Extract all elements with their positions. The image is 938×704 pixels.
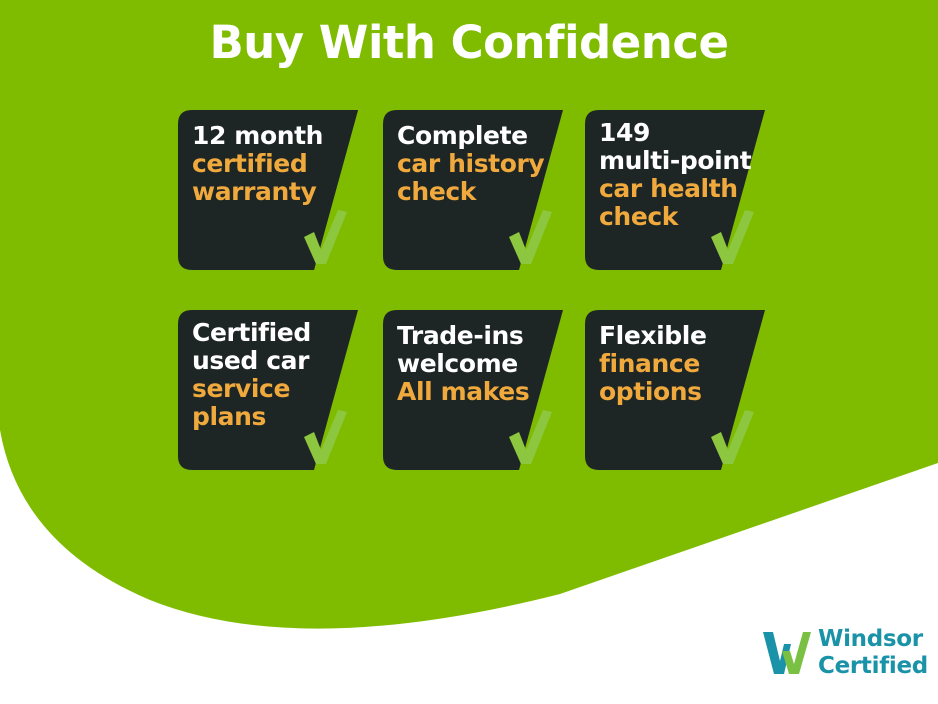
card-line: 149 — [599, 119, 751, 147]
feature-card-flexible-finance-options: Flexible finance options — [585, 310, 765, 470]
logo-line-2: Certified — [818, 653, 928, 680]
feature-card-certified-used-car-service-plans: Certified used car service plans — [178, 310, 358, 470]
feature-card-12-month-certified-warranty: 12 month certified warranty — [178, 110, 358, 270]
card-line: certified — [192, 150, 344, 178]
card-line: Complete — [397, 122, 549, 150]
check-icon — [507, 410, 553, 466]
feature-card-149-multi-point-car-health-check: 149 multi-point car health check — [585, 110, 765, 270]
card-text: Complete car history check — [397, 122, 549, 206]
card-line: options — [599, 378, 751, 406]
check-icon — [507, 210, 553, 266]
card-line: car health — [599, 175, 751, 203]
feature-card-complete-car-history-check: Complete car history check — [383, 110, 563, 270]
card-line: car history — [397, 150, 549, 178]
card-line: All makes — [397, 378, 549, 406]
card-line: Flexible — [599, 322, 751, 350]
card-line: welcome — [397, 350, 549, 378]
card-line: Trade-ins — [397, 322, 549, 350]
card-text: 12 month certified warranty — [192, 122, 344, 206]
check-icon — [302, 410, 348, 466]
card-line: finance — [599, 350, 751, 378]
card-line: Certified — [192, 319, 344, 347]
logo-wordmark: Windsor Certified — [818, 626, 928, 680]
check-icon — [302, 210, 348, 266]
logo-line-1: Windsor — [818, 626, 928, 653]
windsor-certified-logo[interactable]: Windsor Certified — [762, 626, 926, 684]
feature-card-trade-ins-welcome-all-makes: Trade-ins welcome All makes — [383, 310, 563, 470]
card-line: service — [192, 375, 344, 403]
page-title: Buy With Confidence — [0, 18, 938, 68]
promo-banner: Buy With Confidence 12 month certified w… — [0, 0, 938, 704]
card-text: Trade-ins welcome All makes — [397, 322, 549, 406]
check-icon — [709, 410, 755, 466]
card-line: multi-point — [599, 147, 751, 175]
card-line: 12 month — [192, 122, 344, 150]
windsor-w-icon — [762, 630, 812, 676]
card-line: warranty — [192, 178, 344, 206]
card-text: Flexible finance options — [599, 322, 751, 406]
card-line: used car — [192, 347, 344, 375]
check-icon — [709, 210, 755, 266]
card-line: check — [397, 178, 549, 206]
